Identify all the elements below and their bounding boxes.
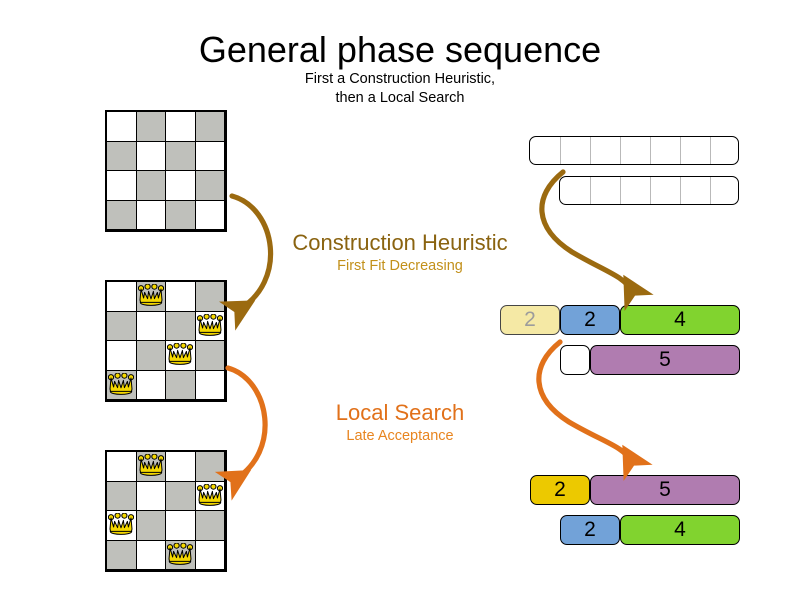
board-cell-r0-c1 (136, 281, 167, 312)
bin-item-label: 4 (674, 518, 686, 542)
phase-label-local-search: Local Search Late Acceptance (250, 400, 550, 446)
board-cell-r0-c0 (106, 451, 137, 482)
board-cell-r2-c0 (106, 510, 137, 541)
board-cell-r1-c0 (106, 141, 137, 172)
bin-divider (560, 137, 561, 164)
board-after-local-search (105, 450, 227, 572)
bin-divider (650, 137, 651, 164)
bin-item-label: 4 (674, 308, 686, 332)
board-cell-r2-c1 (136, 510, 167, 541)
board-cell-r3-c3 (195, 540, 226, 571)
bin-empty-slot (560, 345, 590, 375)
board-cell-r0-c0 (106, 281, 137, 312)
board-cell-r2-c2 (165, 510, 196, 541)
board-cell-r3-c0 (106, 200, 137, 231)
board-cell-r1-c0 (106, 481, 137, 512)
board-cell-r2-c2 (165, 170, 196, 201)
board-cell-r0-c2 (165, 111, 196, 142)
bin-item-2: 2 (530, 475, 590, 505)
board-cell-r2-c0 (106, 170, 137, 201)
queen-icon (138, 284, 164, 308)
bin-item-label: 2 (584, 308, 596, 332)
bin-divider (710, 137, 711, 164)
board-cell-r1-c1 (136, 141, 167, 172)
board-cell-r3-c3 (195, 370, 226, 401)
board-cell-r0-c1 (136, 451, 167, 482)
board-cell-r2-c2 (165, 340, 196, 371)
board-cell-r1-c1 (136, 481, 167, 512)
subtitle-line-1: First a Construction Heuristic, (0, 70, 800, 89)
board-cell-r3-c2 (165, 370, 196, 401)
bin-container-empty-0 (529, 136, 739, 165)
board-after-construction-heuristic (105, 280, 227, 402)
board-cell-r2-c3 (195, 340, 226, 371)
board-cell-r1-c3 (195, 481, 226, 512)
board-cell-r3-c1 (136, 540, 167, 571)
bin-divider (590, 137, 591, 164)
board-cell-r3-c0 (106, 540, 137, 571)
board-cell-r0-c3 (195, 111, 226, 142)
phase-algorithm-local-search: Late Acceptance (250, 426, 550, 446)
phase-title-local-search: Local Search (250, 400, 550, 426)
queen-icon (138, 454, 164, 478)
board-cell-r3-c2 (165, 200, 196, 231)
board-cell-r1-c2 (165, 481, 196, 512)
bin-item-4: 4 (620, 515, 740, 545)
bin-divider (710, 177, 711, 204)
subtitle-line-2: then a Local Search (0, 89, 800, 108)
queen-icon (167, 343, 193, 367)
bin-container-empty-1 (559, 176, 739, 205)
board-cell-r0-c2 (165, 281, 196, 312)
board-cell-r2-c3 (195, 510, 226, 541)
bin-divider (680, 137, 681, 164)
phase-label-construction-heuristic: Construction Heuristic First Fit Decreas… (250, 230, 550, 276)
board-cell-r1-c1 (136, 311, 167, 342)
diagram-canvas: General phase sequence First a Construct… (0, 0, 800, 600)
board-initial (105, 110, 227, 232)
bin-divider (620, 177, 621, 204)
board-cell-r3-c1 (136, 200, 167, 231)
queen-icon (108, 513, 134, 537)
bin-divider (650, 177, 651, 204)
board-cell-r0-c0 (106, 111, 137, 142)
board-cell-r1-c2 (165, 141, 196, 172)
queen-icon (108, 373, 134, 397)
phase-algorithm-construction-heuristic: First Fit Decreasing (250, 256, 550, 276)
board-cell-r0-c3 (195, 451, 226, 482)
board-cell-r3-c0 (106, 370, 137, 401)
page-subtitle: First a Construction Heuristic, then a L… (0, 70, 800, 108)
board-cell-r1-c0 (106, 311, 137, 342)
bin-item-label: 2 (554, 478, 566, 502)
bin-item-label: 5 (659, 478, 671, 502)
board-cell-r0-c1 (136, 111, 167, 142)
queen-icon (197, 484, 223, 508)
bin-item-2: 2 (560, 305, 620, 335)
board-cell-r2-c3 (195, 170, 226, 201)
queen-icon (197, 314, 223, 338)
board-cell-r2-c1 (136, 340, 167, 371)
board-cell-r3-c2 (165, 540, 196, 571)
bin-item-label: 2 (584, 518, 596, 542)
page-title: General phase sequence (0, 29, 800, 71)
board-cell-r1-c2 (165, 311, 196, 342)
board-cell-r3-c3 (195, 200, 226, 231)
bin-item-label: 2 (524, 308, 536, 332)
bin-divider (680, 177, 681, 204)
board-cell-r1-c3 (195, 141, 226, 172)
bin-divider (620, 137, 621, 164)
board-cell-r0-c3 (195, 281, 226, 312)
queen-icon (167, 543, 193, 567)
bin-item-label: 5 (659, 348, 671, 372)
board-cell-r0-c2 (165, 451, 196, 482)
bin-item-5: 5 (590, 475, 740, 505)
board-cell-r1-c3 (195, 311, 226, 342)
board-cell-r2-c1 (136, 170, 167, 201)
board-cell-r2-c0 (106, 340, 137, 371)
bin-item-4: 4 (620, 305, 740, 335)
bin-item-2: 2 (560, 515, 620, 545)
bin-divider (590, 177, 591, 204)
bin-item-2: 2 (500, 305, 560, 335)
board-cell-r3-c1 (136, 370, 167, 401)
bin-item-5: 5 (590, 345, 740, 375)
phase-title-construction-heuristic: Construction Heuristic (250, 230, 550, 256)
